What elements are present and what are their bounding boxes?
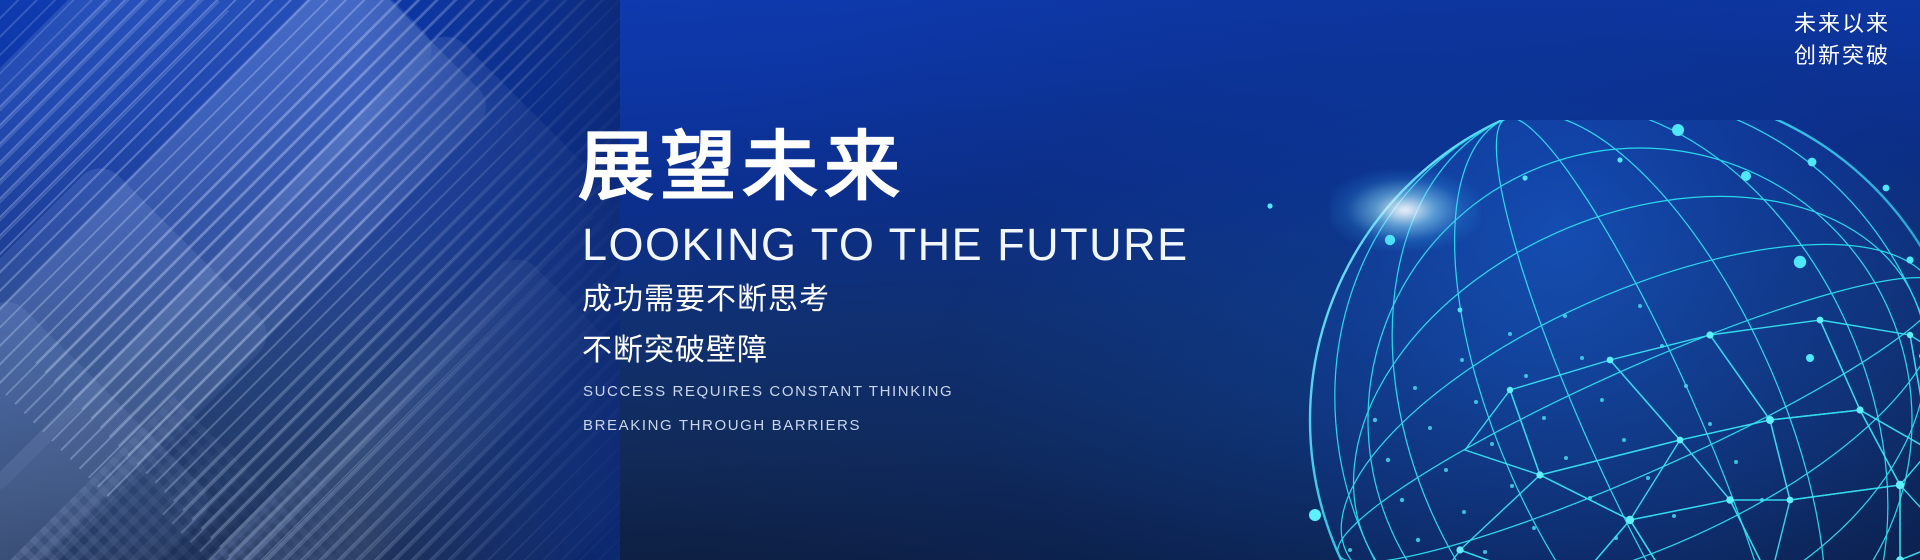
subtitle-en-line2: BREAKING THROUGH BARRIERS [583, 414, 1198, 438]
diagonal-panel [0, 26, 620, 560]
headline-block: 展望未来 LOOKING TO THE FUTURE 成功需要不断思考 不断突破… [578, 128, 1198, 439]
wireframe-globe [1210, 120, 1920, 560]
corner-slogan: 未来以来 创新突破 [1794, 8, 1890, 72]
halftone-grid-pattern [150, 464, 489, 560]
page-title-en: LOOKING TO THE FUTURE [582, 220, 1198, 270]
corner-slogan-line1: 未来以来 [1794, 8, 1890, 40]
diagonal-panel [0, 0, 497, 560]
diagonal-panel [79, 249, 620, 560]
diagonal-stripes [0, 0, 230, 380]
diagonal-panel [0, 0, 442, 502]
globe-rim-highlight [1330, 170, 1480, 250]
subtitle-en-line1: SUCCESS REQUIRES CONSTANT THINKING [583, 380, 1198, 404]
left-geometric-decor [0, 0, 620, 560]
diagonal-panel [0, 158, 277, 560]
page-title-cn: 展望未来 [578, 128, 1198, 208]
corner-slogan-line2: 创新突破 [1794, 40, 1890, 72]
diagonal-stripes [35, 0, 620, 560]
subtitle-cn-line1: 成功需要不断思考 [582, 281, 1198, 319]
diagonal-stripes [155, 215, 620, 560]
halftone-grid-pattern [0, 396, 386, 560]
diagonal-stripes [0, 0, 620, 502]
diagonal-panel [0, 291, 219, 560]
banner-root: 展望未来 LOOKING TO THE FUTURE 成功需要不断思考 不断突破… [0, 0, 1920, 560]
diagonal-stripes [162, 0, 620, 560]
subtitle-cn-line2: 不断突破壁障 [582, 332, 1198, 370]
